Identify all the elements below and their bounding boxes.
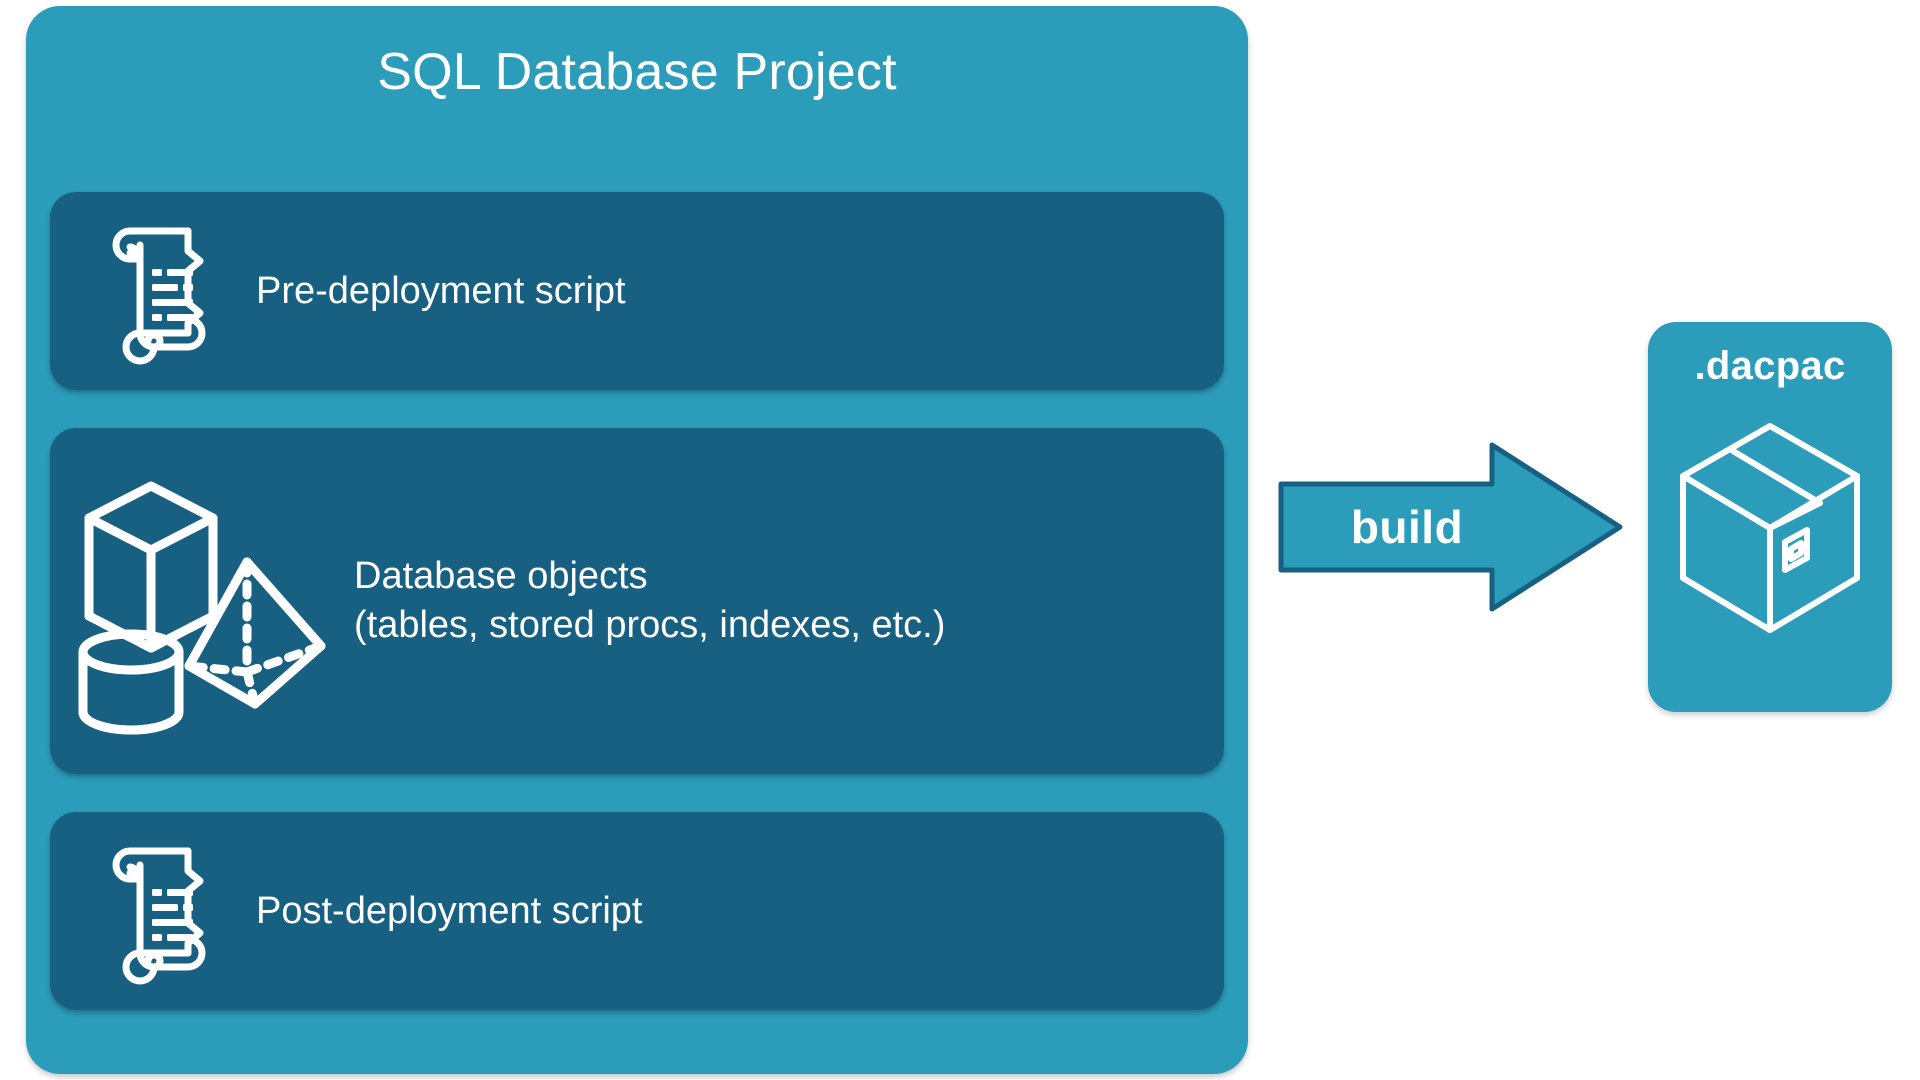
cylinder-icon [83,634,179,730]
panel-database-objects[interactable]: Database objects (tables, stored procs, … [50,428,1224,774]
panel-pre-deployment-label: Pre-deployment script [256,267,626,316]
scroll-icon [68,841,248,981]
build-arrow[interactable]: build [1278,442,1623,612]
panel-post-deployment-label: Post-deployment script [256,887,643,936]
cube-icon [89,486,213,648]
dacpac-title: .dacpac [1648,344,1892,389]
package-box-icon [1675,418,1865,648]
dacpac-output-card[interactable]: .dacpac [1648,322,1892,712]
shapes-icon [64,466,344,736]
panel-database-objects-label: Database objects (tables, stored procs, … [354,552,945,649]
panel-pre-deployment[interactable]: Pre-deployment script [50,192,1224,390]
sql-database-project-card: SQL Database Project [26,6,1248,1074]
scroll-icon [68,221,248,361]
build-arrow-label: build [1278,442,1536,612]
page-title: SQL Database Project [26,44,1248,101]
panel-post-deployment[interactable]: Post-deployment script [50,812,1224,1010]
